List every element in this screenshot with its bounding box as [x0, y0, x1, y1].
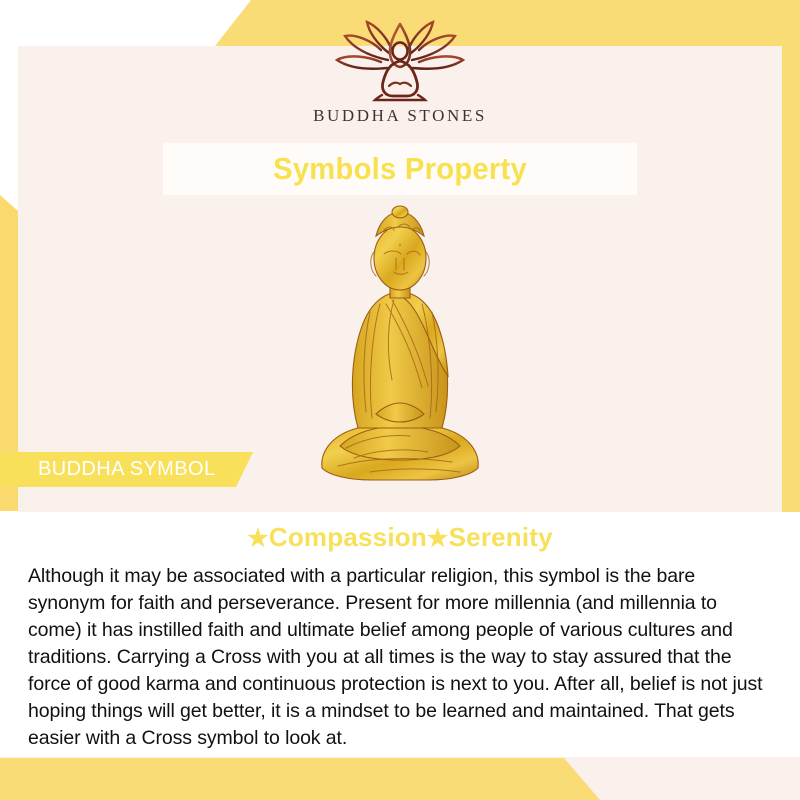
brand-block: BUDDHA STONES — [0, 20, 800, 126]
star-icon-right: ★ — [427, 525, 449, 552]
lotus-meditation-icon — [325, 20, 475, 102]
title-strip: Symbols Property — [163, 143, 637, 195]
subtitle-word-two: Serenity — [449, 522, 553, 552]
page-title: Symbols Property — [273, 151, 527, 187]
subtitle-word-one: Compassion — [269, 522, 427, 552]
article-subtitle: ★Compassion★Serenity — [0, 522, 800, 553]
section-tag-label: BUDDHA SYMBOL — [38, 458, 215, 481]
article-body: Although it may be associated with a par… — [28, 563, 772, 752]
bottom-yellow-banner — [0, 758, 600, 800]
star-icon-left: ★ — [247, 525, 269, 552]
poster-root: BUDDHA STONES Symbols Property — [0, 0, 800, 800]
brand-name: BUDDHA STONES — [313, 106, 487, 126]
golden-buddha-statue-icon — [310, 200, 490, 490]
section-tag: BUDDHA SYMBOL — [0, 452, 253, 487]
buddha-image-wrap — [0, 200, 800, 490]
article-panel: ★Compassion★Serenity Although it may be … — [0, 512, 800, 757]
